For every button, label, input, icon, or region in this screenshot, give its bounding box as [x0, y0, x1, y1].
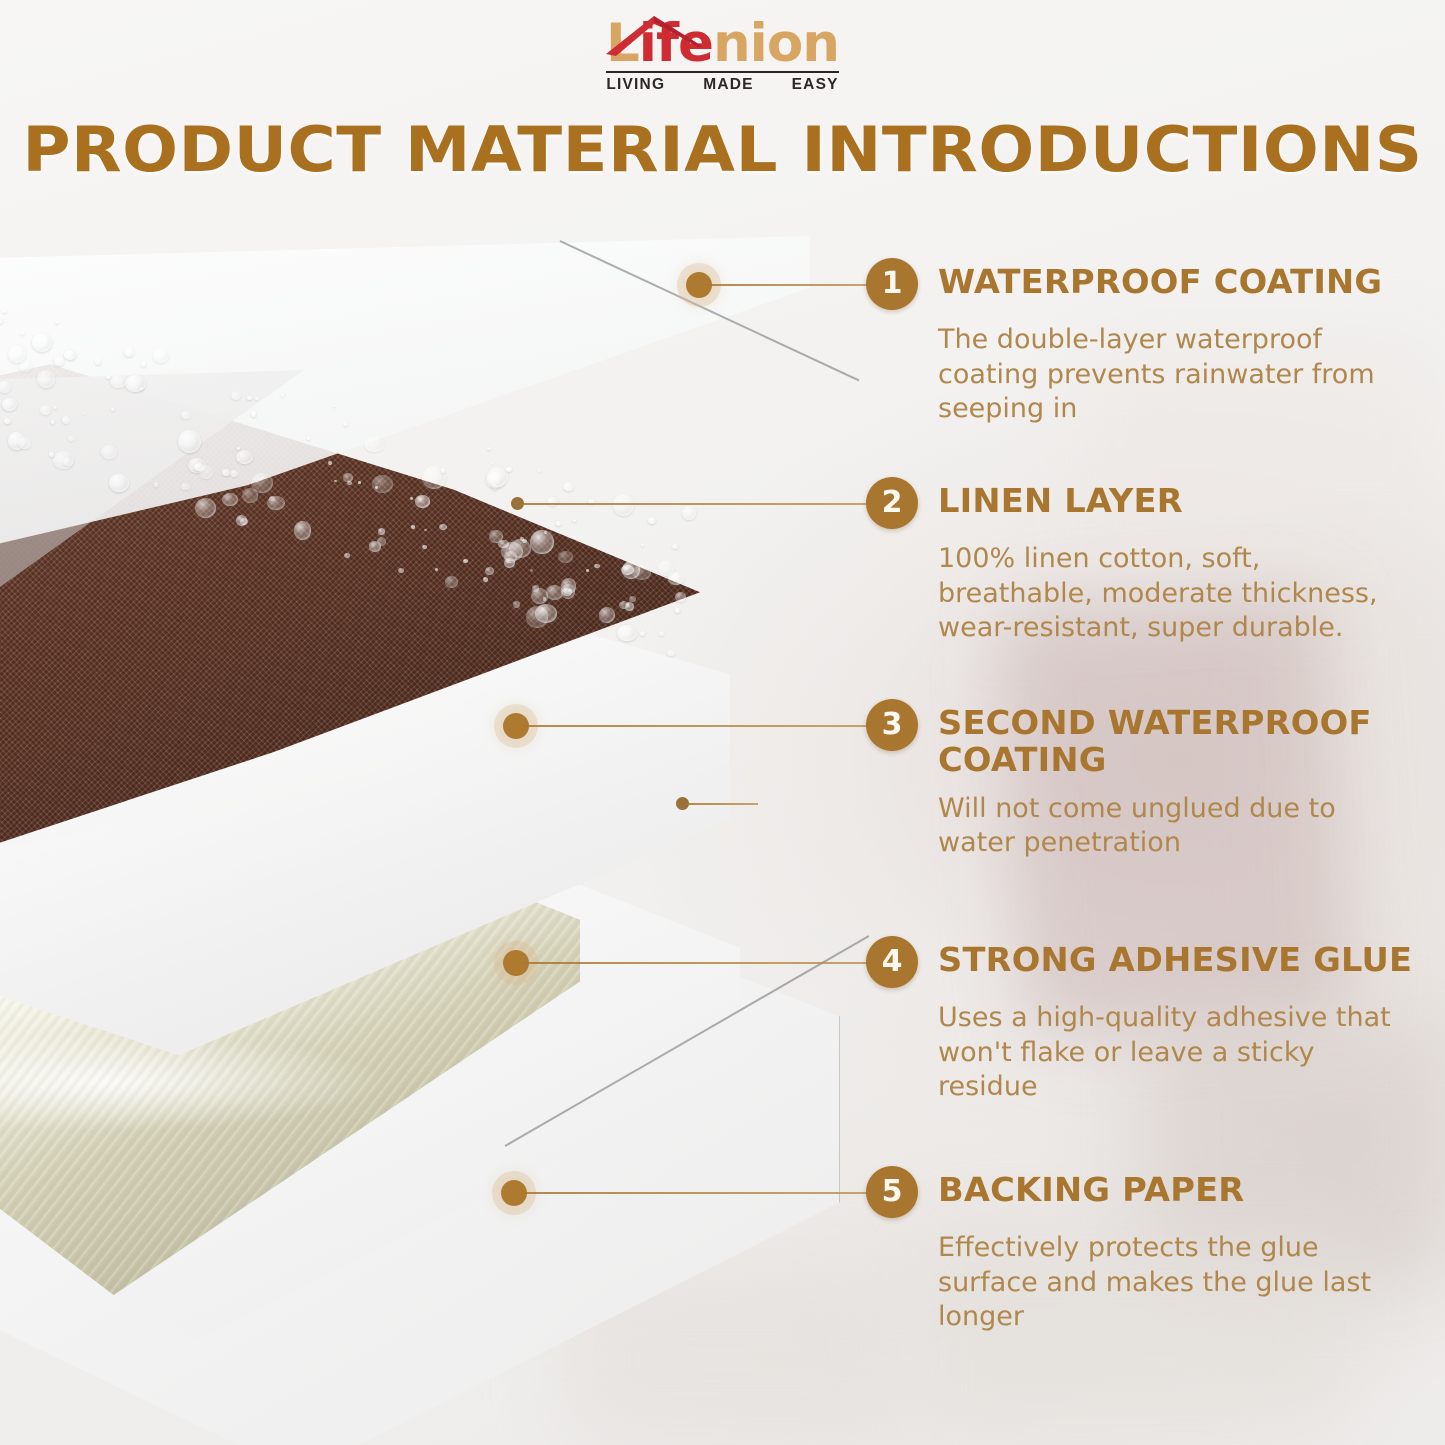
water-droplet — [530, 530, 554, 554]
water-droplet — [195, 498, 216, 518]
material-layer-stack-illustration — [0, 0, 900, 1445]
water-droplet — [625, 602, 634, 611]
logo-letters-ife: ife — [639, 13, 713, 74]
water-droplet — [18, 437, 31, 449]
callout-2-badge: 2 — [866, 477, 918, 529]
water-droplet — [40, 405, 51, 415]
water-droplet — [333, 405, 336, 407]
callout-5-body: Effectively protects the glue surface an… — [938, 1231, 1406, 1335]
callout-2-head: 2 LINEN LAYER — [866, 477, 1406, 529]
water-droplet — [641, 544, 644, 547]
water-droplet — [487, 447, 491, 451]
logo-mark: Lifenion — [606, 8, 839, 70]
water-droplet — [178, 430, 201, 453]
leader-line-4 — [523, 962, 879, 964]
callout-2-body: 100% linen cotton, soft, breathable, mod… — [938, 542, 1406, 646]
water-droplet — [140, 387, 143, 390]
tagline-word-easy: EASY — [792, 76, 839, 94]
leader-line-5 — [521, 1192, 879, 1194]
water-droplet — [247, 396, 251, 399]
water-droplet — [199, 465, 213, 478]
tagline-word-made: MADE — [703, 76, 753, 94]
water-droplet — [153, 348, 169, 363]
water-droplet — [506, 467, 511, 472]
callout-1-head: 1 WATERPROOF COATING — [866, 258, 1406, 310]
water-droplet — [251, 411, 257, 416]
water-droplet — [422, 545, 426, 549]
callout-5[interactable]: 5 BACKING PAPER Effectively protects the… — [866, 1166, 1406, 1335]
water-droplet — [32, 333, 52, 352]
callout-2[interactable]: 2 LINEN LAYER 100% linen cotton, soft, b… — [866, 477, 1406, 646]
callout-3-body: Will not come unglued due to water penet… — [938, 792, 1406, 861]
water-droplet — [573, 536, 577, 539]
leader-line-2 — [520, 503, 880, 505]
logo-letters-nion: nion — [713, 13, 839, 74]
water-droplet — [613, 494, 634, 517]
water-droplet — [222, 469, 230, 476]
logo-wordmark: Lifenion — [606, 17, 839, 70]
water-droplet — [675, 592, 685, 603]
water-droplet — [251, 473, 272, 493]
water-droplet — [659, 631, 664, 636]
water-droplet — [236, 450, 253, 464]
water-droplet — [617, 625, 636, 641]
water-droplet — [573, 519, 576, 522]
water-droplet — [124, 347, 134, 357]
callout-4-body: Uses a high-quality adhesive that won't … — [938, 1001, 1406, 1105]
water-droplet — [347, 481, 352, 485]
tagline-word-living: LIVING — [606, 76, 665, 94]
callout-1-body: The double-layer waterproof coating prev… — [938, 323, 1406, 427]
water-droplet — [483, 577, 488, 582]
water-droplet — [372, 475, 393, 492]
leader-line-3 — [523, 725, 879, 727]
water-droplet — [648, 517, 656, 524]
water-droplet — [561, 578, 576, 593]
callout-1-badge: 1 — [866, 258, 918, 310]
water-droplet — [307, 437, 310, 440]
water-droplet — [231, 391, 241, 400]
water-droplet — [675, 608, 680, 612]
water-droplet — [563, 482, 574, 492]
water-droplet — [504, 558, 515, 568]
brand-logo: Lifenion LIVING MADE EASY — [0, 8, 1445, 94]
water-droplet — [445, 576, 458, 587]
water-droplet — [558, 551, 573, 563]
water-droplet — [672, 544, 678, 549]
water-droplet — [55, 321, 58, 324]
callout-3-head: 3 SECOND WATERPROOF COATING — [866, 699, 1406, 779]
water-droplet — [141, 361, 146, 366]
water-droplet — [369, 541, 380, 551]
water-droplet — [491, 462, 494, 465]
water-droplet — [586, 569, 589, 572]
water-droplet — [415, 495, 430, 507]
leader-line-3b — [686, 803, 758, 805]
water-droplet — [556, 521, 561, 526]
water-droplet — [237, 447, 240, 450]
water-droplet — [435, 568, 438, 571]
water-droplet — [487, 467, 508, 487]
water-droplet — [237, 458, 240, 460]
callout-5-title: BACKING PAPER — [938, 1172, 1244, 1209]
callout-3-title: SECOND WATERPROOF COATING — [938, 705, 1415, 779]
page-title: PRODUCT MATERIAL INTRODUCTIONS — [0, 113, 1445, 186]
leader-line-1 — [706, 284, 878, 286]
callout-1[interactable]: 1 WATERPROOF COATING The double-layer wa… — [866, 258, 1406, 427]
callout-3[interactable]: 3 SECOND WATERPROOF COATING Will not com… — [866, 699, 1406, 861]
callout-2-title: LINEN LAYER — [938, 483, 1183, 520]
water-droplet — [230, 470, 238, 477]
water-droplet — [110, 375, 127, 388]
water-droplet — [667, 650, 674, 656]
callout-1-title: WATERPROOF COATING — [938, 264, 1382, 301]
callout-5-badge: 5 — [866, 1166, 918, 1218]
water-droplet — [538, 469, 541, 472]
water-droplet — [95, 358, 102, 365]
callout-4-title: STRONG ADHESIVE GLUE — [938, 942, 1412, 979]
callout-3-badge: 3 — [866, 699, 918, 751]
logo-letter-l: L — [606, 13, 639, 74]
water-droplet — [20, 331, 25, 335]
water-droplet — [640, 631, 645, 636]
water-droplet — [64, 350, 76, 360]
callout-4-badge: 4 — [866, 936, 918, 988]
callout-5-head: 5 BACKING PAPER — [866, 1166, 1406, 1218]
water-droplet — [101, 445, 117, 459]
water-droplet — [111, 408, 114, 411]
water-droplet — [682, 506, 696, 520]
water-droplet — [154, 482, 159, 487]
water-droplet — [236, 515, 247, 526]
water-droplet — [328, 461, 332, 465]
water-droplet — [364, 436, 385, 453]
callout-4-head: 4 STRONG ADHESIVE GLUE — [866, 936, 1406, 988]
infographic-canvas: Lifenion LIVING MADE EASY PRODUCT MATERI… — [0, 0, 1445, 1445]
water-droplet — [54, 356, 64, 365]
water-droplet — [629, 596, 636, 602]
logo-tagline: LIVING MADE EASY — [606, 71, 838, 94]
water-droplet — [358, 481, 361, 484]
water-droplet — [281, 393, 284, 396]
water-droplet — [520, 537, 524, 541]
water-droplet — [622, 561, 640, 579]
water-droplet — [62, 416, 70, 423]
callout-4[interactable]: 4 STRONG ADHESIVE GLUE Uses a high-quali… — [866, 936, 1406, 1105]
water-droplet — [294, 521, 311, 539]
water-droplet — [398, 568, 404, 573]
water-droplet — [485, 567, 494, 575]
water-droplet — [267, 496, 284, 510]
